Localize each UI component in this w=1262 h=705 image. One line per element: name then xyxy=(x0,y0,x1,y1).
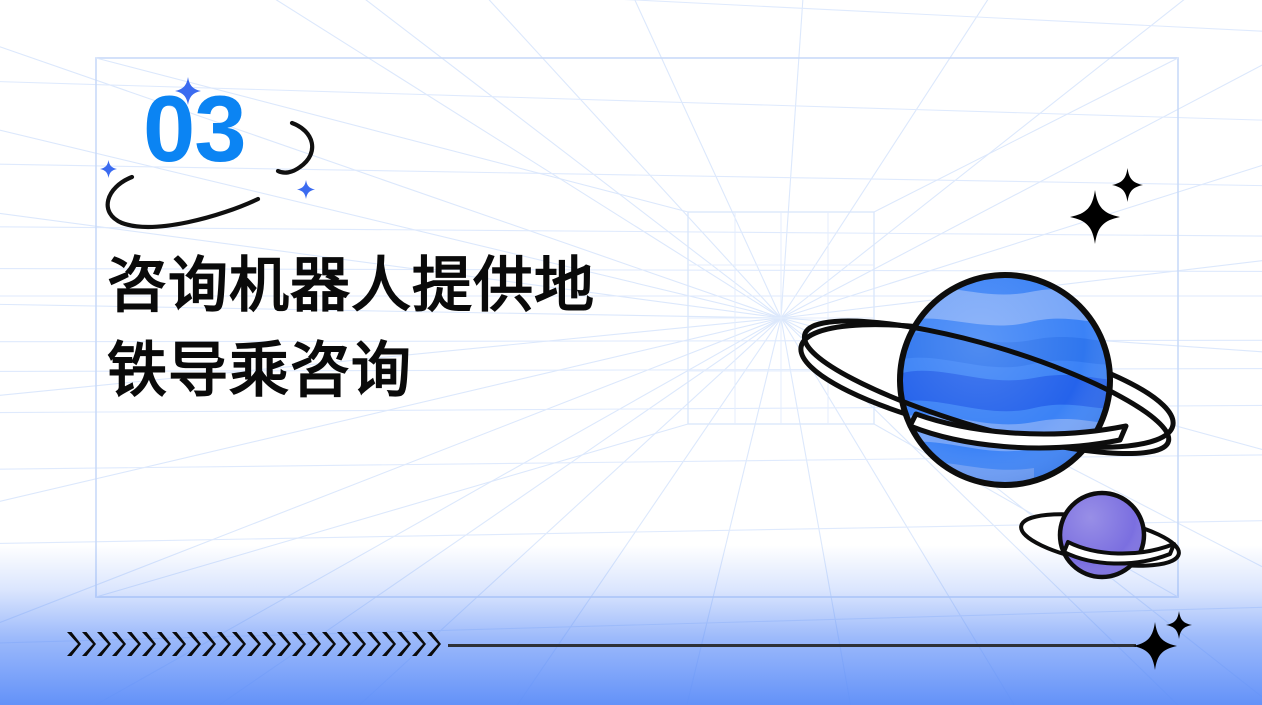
chevron-right-icon xyxy=(111,630,126,658)
page-title: 咨询机器人提供地 铁导乘咨询 xyxy=(107,243,727,413)
sparkle-diamond-icon xyxy=(100,160,117,178)
chevron-right-icon xyxy=(426,630,441,658)
chevron-right-icon xyxy=(321,630,336,658)
horizontal-rule xyxy=(448,644,1136,647)
four-point-star-icon xyxy=(1070,190,1120,244)
chevron-right-icon xyxy=(306,630,321,658)
ringed-planet-small-icon xyxy=(1012,480,1192,595)
chevron-right-icon xyxy=(411,630,426,658)
four-point-star-icon xyxy=(1112,168,1143,202)
chevron-right-icon xyxy=(336,630,351,658)
chevron-right-icon xyxy=(171,630,186,658)
chevron-right-icon xyxy=(396,630,411,658)
chevron-right-icon xyxy=(156,630,171,658)
chevron-right-icon xyxy=(366,630,381,658)
four-point-star-icon xyxy=(1166,611,1192,639)
ringed-planet-icon xyxy=(790,250,1190,510)
sparkle-diamond-icon xyxy=(297,180,315,199)
chevron-right-icon xyxy=(381,630,396,658)
chevron-right-icon xyxy=(246,630,261,658)
chevron-right-icon xyxy=(201,630,216,658)
four-point-star-icon xyxy=(1133,622,1177,670)
chevron-right-icon xyxy=(291,630,306,658)
chevron-right-icon xyxy=(231,630,246,658)
slide-root: 03 xyxy=(0,0,1262,705)
chevron-right-icon xyxy=(351,630,366,658)
section-number: 03 xyxy=(143,82,246,176)
chevron-right-icon xyxy=(141,630,156,658)
chevron-right-icon xyxy=(261,630,276,658)
chevron-right-icon xyxy=(96,630,111,658)
chevron-right-icon xyxy=(81,630,96,658)
bottom-gradient-band xyxy=(0,545,1262,705)
chevron-right-icon xyxy=(66,630,81,658)
chevron-right-icon xyxy=(186,630,201,658)
chevron-right-icon xyxy=(276,630,291,658)
chevron-arrow-row xyxy=(66,630,441,658)
chevron-right-icon xyxy=(216,630,231,658)
chevron-right-icon xyxy=(126,630,141,658)
